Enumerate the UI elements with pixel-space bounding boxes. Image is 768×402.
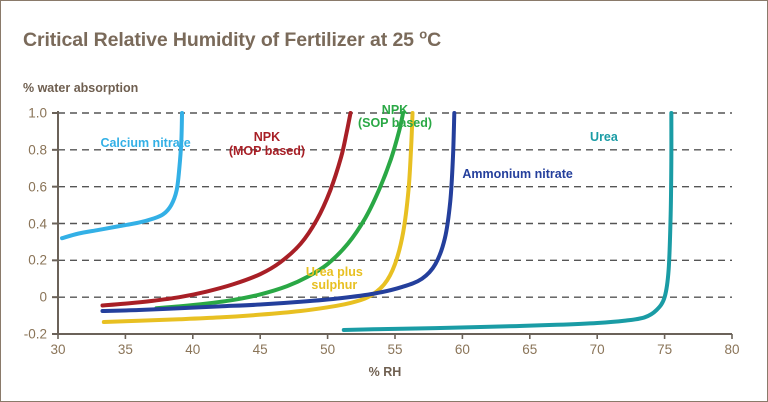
chart-figure: Critical Relative Humidity of Fertilizer… [0,0,768,402]
y-tick-label: 1.0 [1,106,47,121]
series-label-urea: Urea [590,131,618,144]
x-tick-label: 50 [320,342,335,357]
x-tick-label: 60 [455,342,470,357]
x-tick-label: 70 [590,342,605,357]
y-tick-label: 0 [1,290,47,305]
y-tick-label: 0.6 [1,179,47,194]
x-tick-label: 30 [50,342,65,357]
x-tick-label: 55 [387,342,402,357]
series-label-calcium-nitrate: Calcium nitrate [100,137,190,150]
series-label-ammonium-nitrate: Ammonium nitrate [462,168,572,181]
y-tick-label: 0.2 [1,253,47,268]
series-label-npk-sop-based: NPK(SOP based) [358,104,432,130]
x-tick-label: 75 [657,342,672,357]
x-tick-label: 65 [522,342,537,357]
x-tick-label: 35 [118,342,133,357]
y-tick-label: -0.2 [1,327,47,342]
x-tick-label: 45 [253,342,268,357]
x-tick-label: 80 [724,342,739,357]
series-label-urea-plus-sulphur: Urea plussulphur [306,266,363,292]
plot-area [1,1,768,402]
series-line-0 [62,113,182,238]
y-tick-label: 0.8 [1,142,47,157]
series-label-npk-mop-based: NPK(MOP based) [229,131,305,157]
x-tick-label: 40 [185,342,200,357]
y-tick-label: 0.4 [1,216,47,231]
